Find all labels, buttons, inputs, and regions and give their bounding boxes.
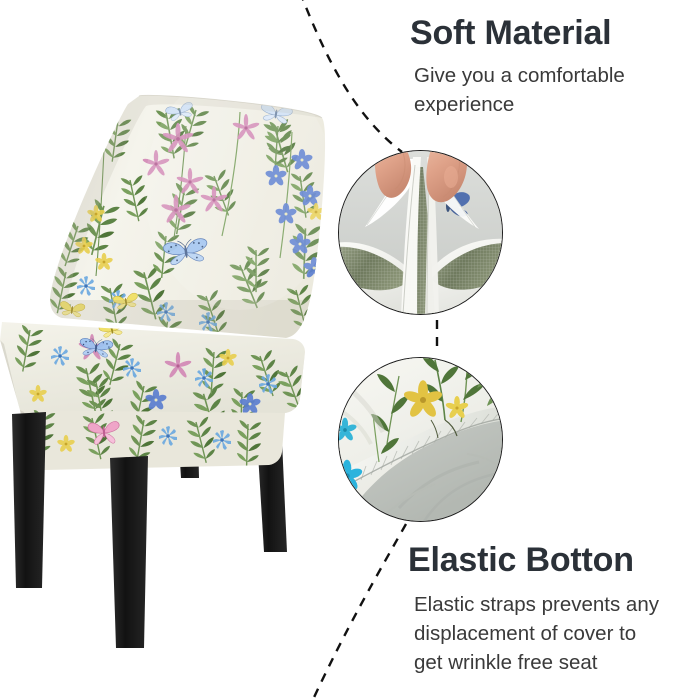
chair-apron — [20, 409, 285, 470]
feature-heading-soft-material: Soft Material — [410, 16, 625, 52]
fabric-stretch-closeup — [338, 150, 503, 315]
elastic-hem-photo — [339, 358, 502, 521]
feature-elastic-bottom: Elastic Botton Elastic straps prevents a… — [408, 543, 659, 677]
feature-soft-material: Soft Material Give you a comfortable exp… — [410, 16, 625, 119]
feature-description-soft-material: Give you a comfortable experience — [414, 61, 625, 119]
elastic-hem-closeup — [338, 357, 503, 522]
chair-illustration — [0, 0, 350, 660]
fabric-stretch-photo — [339, 151, 502, 314]
feature-desc-line: get wrinkle free seat — [414, 648, 659, 677]
feature-desc-line: experience — [414, 90, 625, 119]
feature-heading-elastic-bottom: Elastic Botton — [408, 543, 659, 579]
feature-description-elastic-bottom: Elastic straps prevents any displacement… — [414, 590, 659, 677]
feature-image-canvas: Soft Material Give you a comfortable exp… — [0, 0, 679, 700]
feature-desc-line: Elastic straps prevents any — [414, 590, 659, 619]
feature-desc-line: Give you a comfortable — [414, 61, 625, 90]
feature-desc-line: displacement of cover to — [414, 619, 659, 648]
product-photo — [0, 0, 350, 660]
